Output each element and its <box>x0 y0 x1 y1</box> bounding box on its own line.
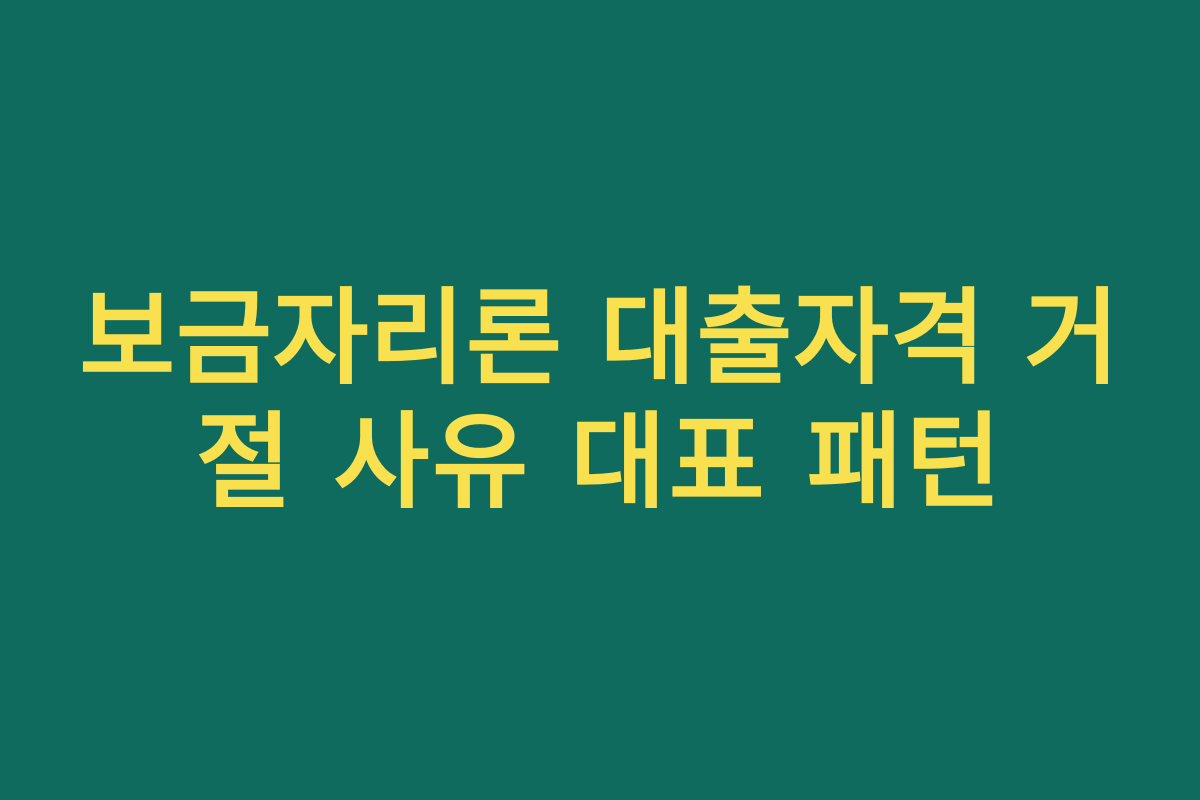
page-title: 보금자리론 대출자격 거 절 사유 대표 패턴 <box>70 276 1130 524</box>
title-line-2: 절 사유 대표 패턴 <box>70 400 1130 524</box>
banner-canvas: 보금자리론 대출자격 거 절 사유 대표 패턴 <box>0 0 1200 800</box>
title-line-1: 보금자리론 대출자격 거 <box>70 276 1130 400</box>
